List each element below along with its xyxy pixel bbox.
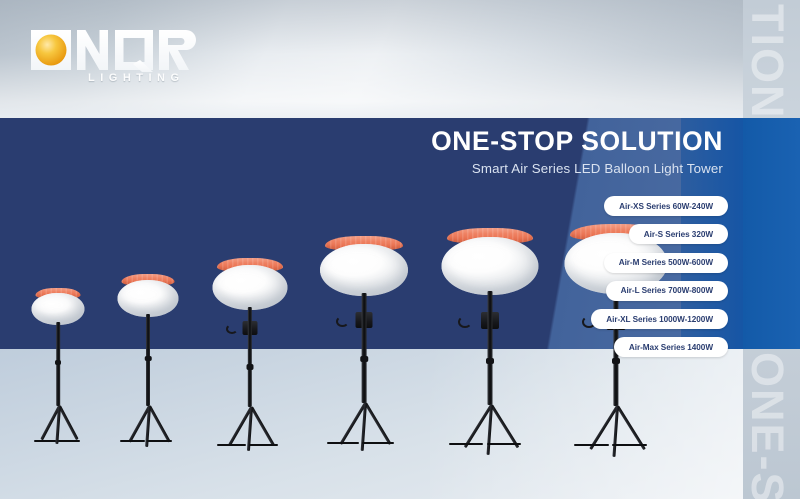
tripod-foot <box>58 440 80 442</box>
page-subtitle: Smart Air Series LED Balloon Light Tower <box>472 161 723 176</box>
status-badge[interactable]: Air-Max Series 1400W <box>614 337 728 357</box>
watermark-text-top: TION <box>743 4 793 120</box>
tripod-leg <box>58 405 78 440</box>
status-badge[interactable]: Air-L Series 700W-800W <box>606 281 728 301</box>
tripod-foot <box>487 443 521 445</box>
height-collar <box>486 358 494 364</box>
height-collar <box>360 356 368 362</box>
side-watermark-strip: TION ONE-S <box>743 0 800 499</box>
balloon-diffuser <box>32 293 85 325</box>
product-lamp-air-m[interactable] <box>198 258 302 444</box>
crank-handle <box>226 324 238 334</box>
page-title: ONE-STOP SOLUTION <box>431 126 723 157</box>
sun-circle-icon <box>28 26 208 76</box>
crank-handle <box>458 316 472 328</box>
crank-handle <box>336 316 349 327</box>
balloon-diffuser <box>118 280 179 317</box>
mast-pole <box>362 293 367 403</box>
tripod-foot <box>34 440 56 442</box>
balloon-diffuser <box>320 244 408 296</box>
tripod-foot <box>147 440 172 442</box>
status-badge[interactable]: Air-XS Series 60W-240W <box>604 196 728 216</box>
tripod-foot <box>612 444 647 446</box>
status-badge[interactable]: Air-S Series 320W <box>629 224 728 244</box>
brand-tagline: LIGHTING <box>88 72 185 84</box>
balloon-diffuser <box>442 237 539 295</box>
tripod-leg <box>148 405 170 442</box>
tripod-leg <box>364 402 391 445</box>
product-lamp-air-xl[interactable] <box>425 228 555 446</box>
height-collar <box>247 364 254 370</box>
tripod-foot <box>120 440 145 442</box>
tripod-foot <box>449 443 483 445</box>
mast-pole <box>488 291 493 405</box>
brand-logo[interactable]: LIGHTING <box>28 26 208 94</box>
height-collar <box>145 356 152 361</box>
height-collar <box>612 358 620 364</box>
tripod-leg <box>250 406 275 446</box>
tripod-foot <box>574 444 609 446</box>
tripod-foot <box>217 444 246 446</box>
tripod-foot <box>362 442 394 444</box>
product-poster: LIGHTING <box>0 0 800 499</box>
product-lamp-air-l[interactable] <box>305 236 423 444</box>
tripod-leg <box>490 404 519 448</box>
product-lamp-air-s[interactable] <box>105 274 191 444</box>
mast-pole <box>248 307 252 407</box>
series-badge-list: Air-XS Series 60W-240W Air-S Series 320W… <box>591 196 728 357</box>
tripod-foot <box>327 442 359 444</box>
product-lamp-air-xs[interactable] <box>20 288 96 444</box>
balloon-diffuser <box>213 265 288 310</box>
watermark-text-bottom: ONE-S <box>743 352 793 499</box>
height-collar <box>55 360 61 365</box>
status-badge[interactable]: Air-XL Series 1000W-1200W <box>591 309 728 329</box>
tripod-foot <box>249 444 278 446</box>
side-strip-blue-section <box>743 118 800 349</box>
status-badge[interactable]: Air-M Series 500W-600W <box>604 253 728 273</box>
